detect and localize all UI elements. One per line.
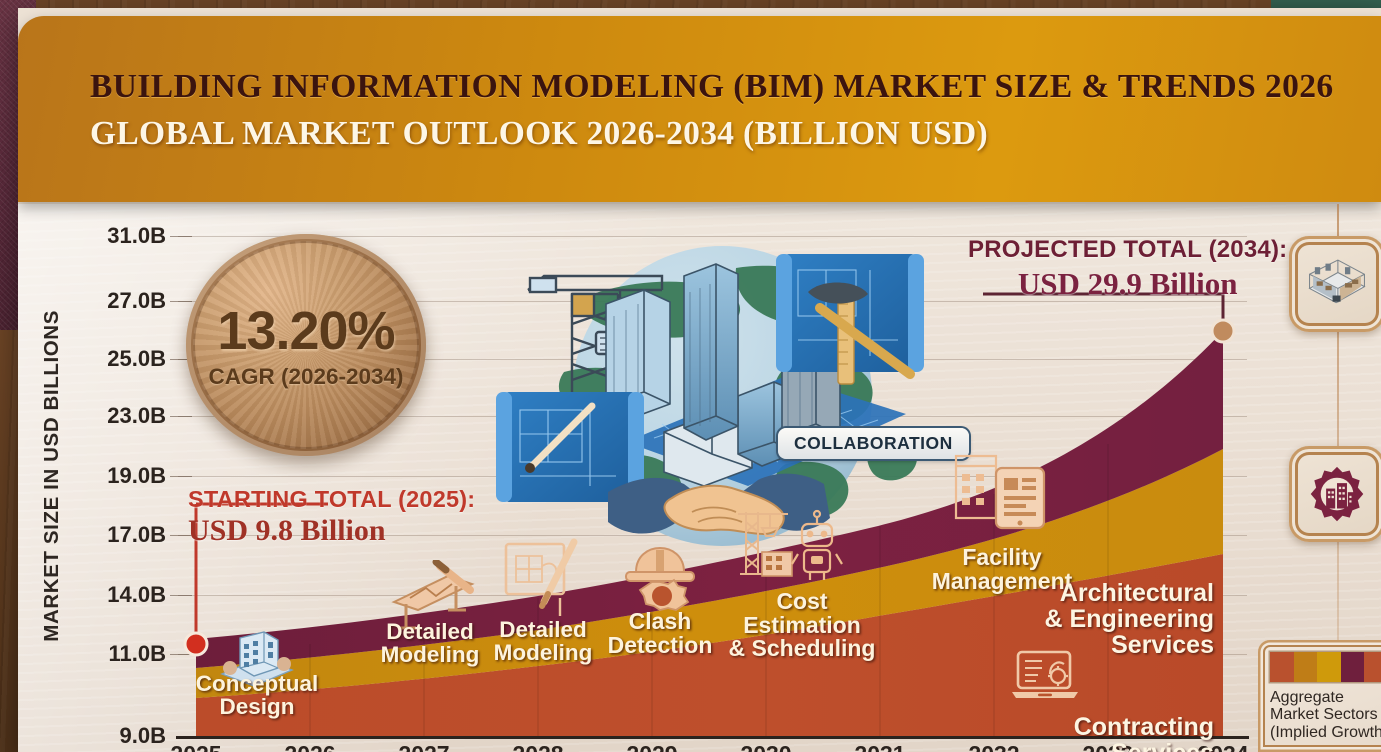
x-tick-label: 2026 [250,741,370,752]
x-tick-label: 2029 [592,741,712,752]
starting-total-label: STARTING TOTAL (2025): [188,486,475,513]
projected-total-value: USD 29.9 Billion [968,266,1287,302]
legend-caption: Aggregate Market Sectors (Implied Growth… [1270,689,1381,741]
cagr-value: 13.20% [217,300,394,362]
page-subtitle: GLOBAL MARKET OUTLOOK 2026-2034 (BILLION… [90,115,1381,153]
legend-swatches [1270,652,1381,682]
header-banner: BUILDING INFORMATION MODELING (BIM) MARK… [18,16,1381,202]
legend: Aggregate Market Sectors (Implied Growth… [1258,640,1381,752]
blueprint-pencil-icon [498,536,590,620]
cagr-badge: 13.20% CAGR (2026-2034) [186,234,426,456]
projected-total-label: PROJECTED TOTAL (2034): [968,236,1287,264]
x-tick-label: 2031 [820,741,940,752]
legend-swatch [1294,652,1318,682]
stage-label-clash-detection: Clash Detection [596,610,724,657]
building-tablet-icon [950,448,1050,532]
legend-swatch [1270,652,1294,682]
band-label-architectural-engineering: Architectural & Engineering Services [1044,580,1214,658]
gear-buildings-icon[interactable] [1289,446,1381,542]
cagr-caption: CAGR (2026-2034) [208,364,403,390]
stage-label-detailed-modeling-2: Detailed Modeling [474,618,612,664]
hardhat-gear-icon [618,546,702,612]
legend-swatch [1364,652,1381,682]
stage-label-cost-estimation-scheduling: Cost Estimation & Scheduling [718,590,886,661]
starting-total-callout: STARTING TOTAL (2025): USD 9.8 Billion [188,486,475,548]
projected-total-callout: PROJECTED TOTAL (2034): USD 29.9 Billion [968,236,1287,302]
page-title: BUILDING INFORMATION MODELING (BIM) MARK… [90,68,1381,106]
stage-label-conceptual-design: Conceptual Design [190,672,324,718]
legend-swatch [1341,652,1365,682]
robot [792,511,842,580]
collaboration-badge: COLLABORATION [778,428,969,459]
bim-globe-illustration [486,246,966,552]
bim-3d-floorplan-icon[interactable] [1289,236,1381,332]
x-tick-label: 2025 [136,741,256,752]
x-tick-label: 2030 [706,741,826,752]
crane-robot-icon [736,508,848,584]
infographic-poster: BUILDING INFORMATION MODELING (BIM) MARK… [18,8,1381,752]
legend-swatch [1317,652,1341,682]
x-tick-label: 2028 [478,741,598,752]
band-label-contracting-services: Contracting Services [1028,714,1214,752]
starting-total-value: USD 9.8 Billion [188,514,475,548]
x-tick-label: 2027 [364,741,484,752]
